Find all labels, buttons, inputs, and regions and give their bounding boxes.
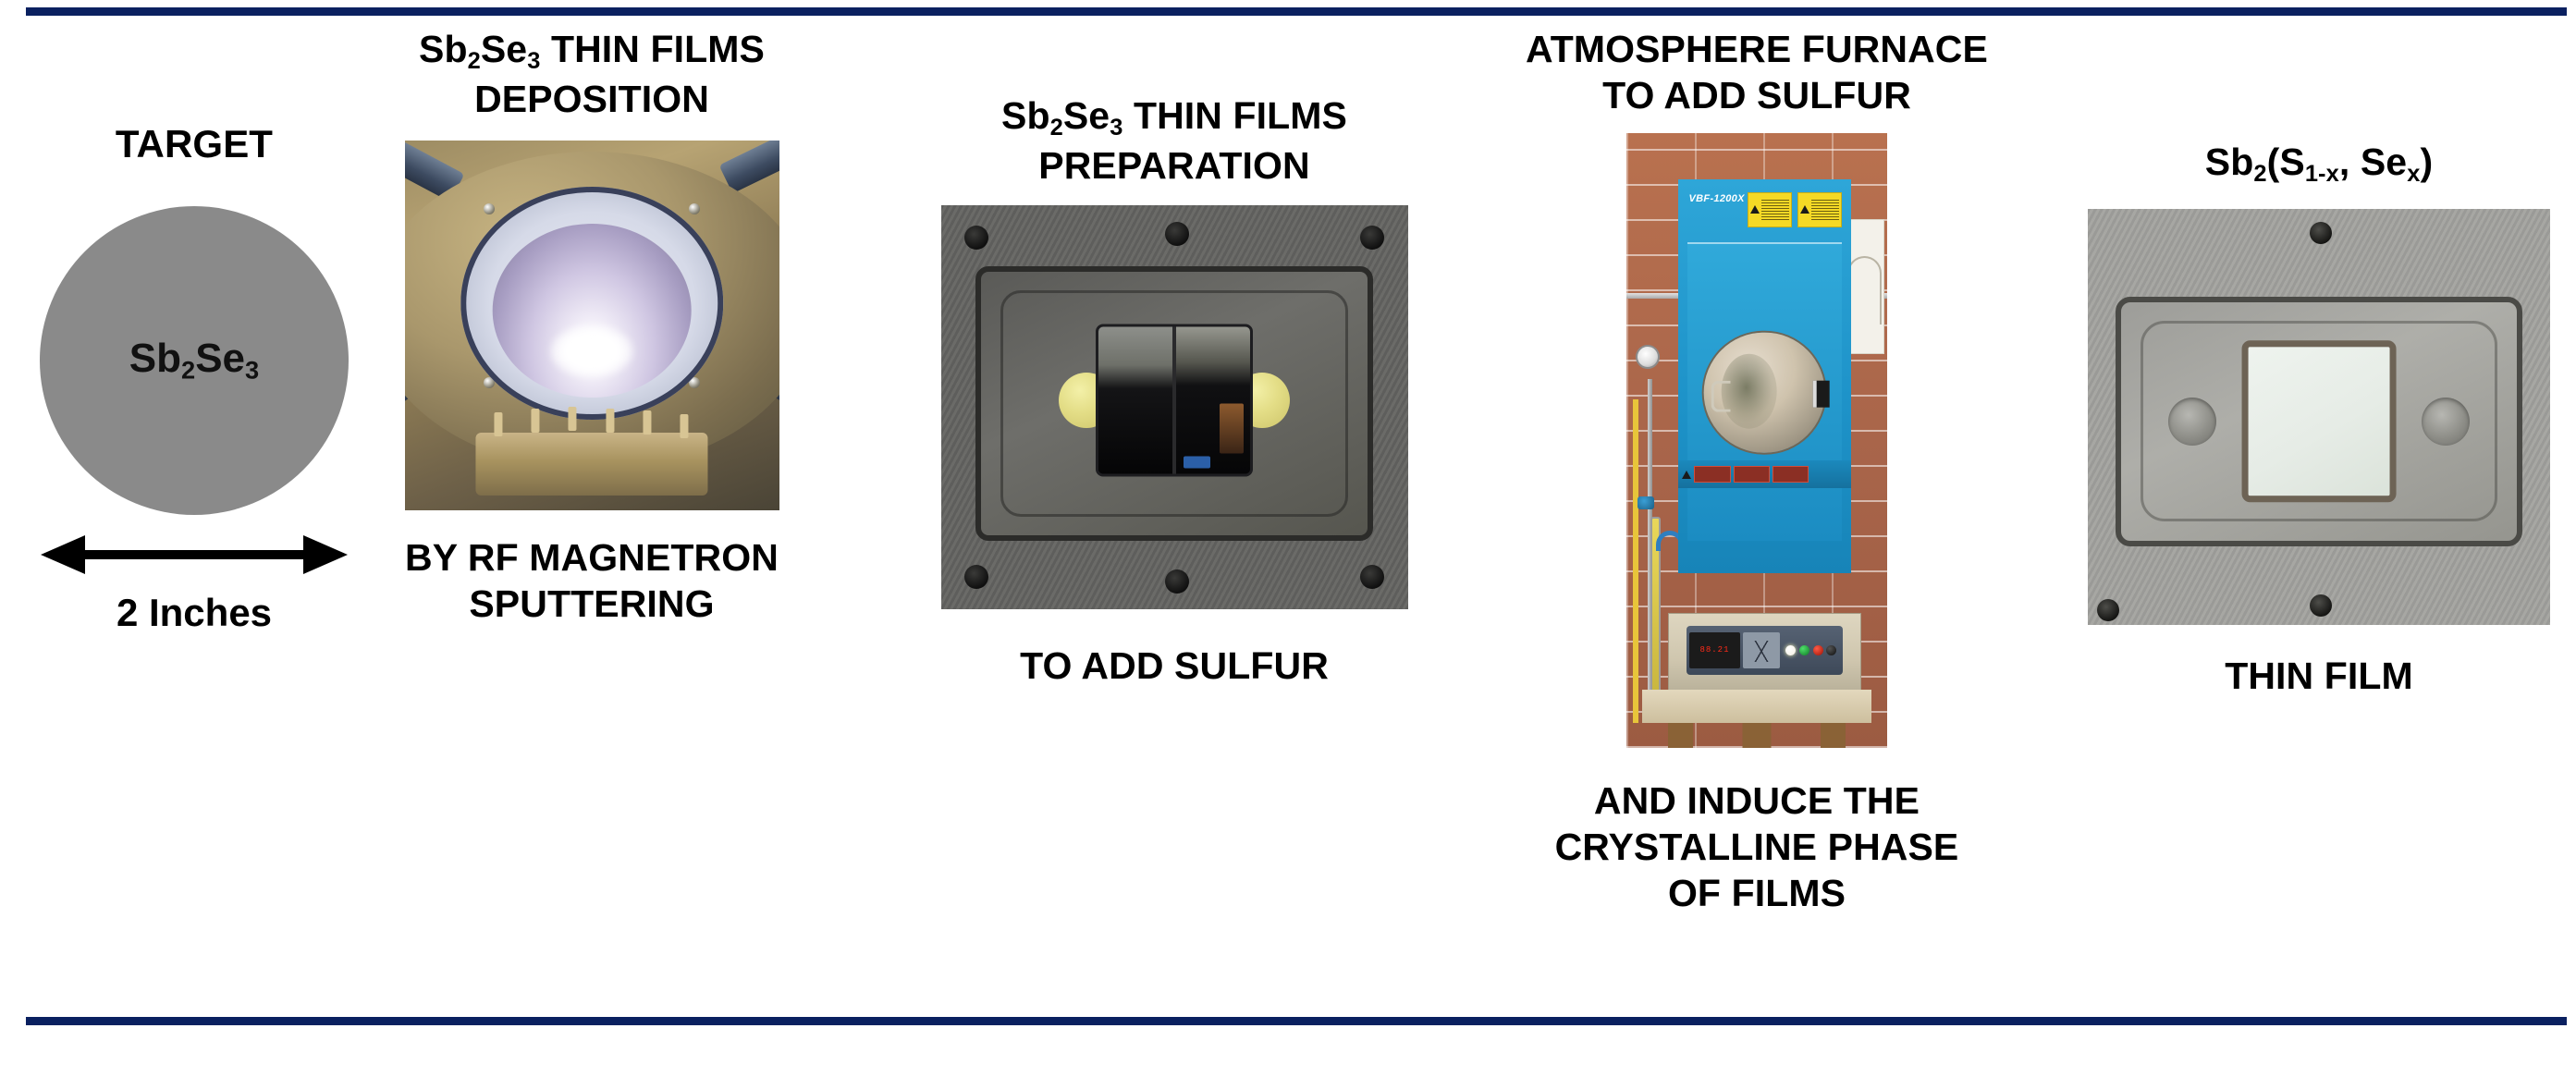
stage-preparation: Sb2Se3 THIN FILMS PREPARATION [878,92,1470,689]
sample-holder-photo [941,205,1408,609]
pressure-gauge [1636,345,1660,369]
temperature-display: 88.21 [1689,632,1741,668]
dimension-label: 2 Inches [117,591,272,635]
furnace-label-band [1678,460,1850,488]
final-thin-film-photo [2088,209,2550,625]
stage-final-film: Sb2(S1-x, Sex) THIN FILM [2062,139,2576,699]
preparation-caption: TO ADD SULFUR [1020,643,1329,689]
sputtering-chamber-photo [405,141,779,510]
furnace-control-chassis: 88.21 [1668,613,1861,692]
furnace-caption: AND INDUCE THE CRYSTALLINE PHASE OF FILM… [1555,777,1959,916]
final-film-header: Sb2(S1-x, Sex) [2205,139,2433,189]
thin-film-substrates [1096,324,1253,477]
atmosphere-furnace-photo: VBF-1200X [1626,133,1887,748]
holder-dimple-right [2422,398,2470,446]
target-disc-label: Sb2Se3 [129,336,259,386]
workbench-top [1642,690,1871,724]
furnace-model-label: VBF-1200X [1689,193,1745,204]
furnace-body: VBF-1200X [1678,179,1850,573]
furnace-door[interactable] [1704,332,1825,453]
furnace-door-plate [1687,242,1842,541]
door-latch[interactable] [1813,381,1830,408]
sputtering-header: Sb2Se3 THIN FILMS DEPOSITION [419,26,765,122]
warning-triangle-icon [1800,205,1809,214]
warning-label-2 [1797,192,1842,227]
door-handle-icon[interactable] [1711,381,1731,412]
control-knob[interactable] [1826,645,1836,655]
final-film-caption: THIN FILM [2225,653,2413,699]
target-header: TARGET [116,120,273,167]
start-button[interactable] [1799,645,1809,655]
stage-sputtering: Sb2Se3 THIN FILMS DEPOSITION [268,17,915,627]
control-panel[interactable]: 88.21 [1687,626,1843,674]
warning-label-1 [1748,192,1792,227]
ramp-profile-icon [1743,632,1779,668]
holder-dimple-left [2168,398,2216,446]
gas-valve [1638,496,1654,509]
temperature-reading: 88.21 [1699,645,1729,655]
stage-furnace: ATMOSPHERE FURNACE TO ADD SULFUR VBF-120… [1415,17,2099,916]
workbench-legs [1668,723,1846,748]
bottom-divider-rule [26,1017,2567,1025]
furnace-header: ATMOSPHERE FURNACE TO ADD SULFUR [1526,26,1988,118]
top-divider-rule [26,7,2567,16]
stop-button[interactable] [1813,645,1823,655]
sputtering-caption: BY RF MAGNETRON SPUTTERING [405,534,779,627]
sulfurized-film-sample [2242,340,2397,502]
preparation-header: Sb2Se3 THIN FILMS PREPARATION [1001,92,1347,189]
warning-triangle-icon [1750,205,1760,214]
power-lamp[interactable] [1785,645,1796,655]
